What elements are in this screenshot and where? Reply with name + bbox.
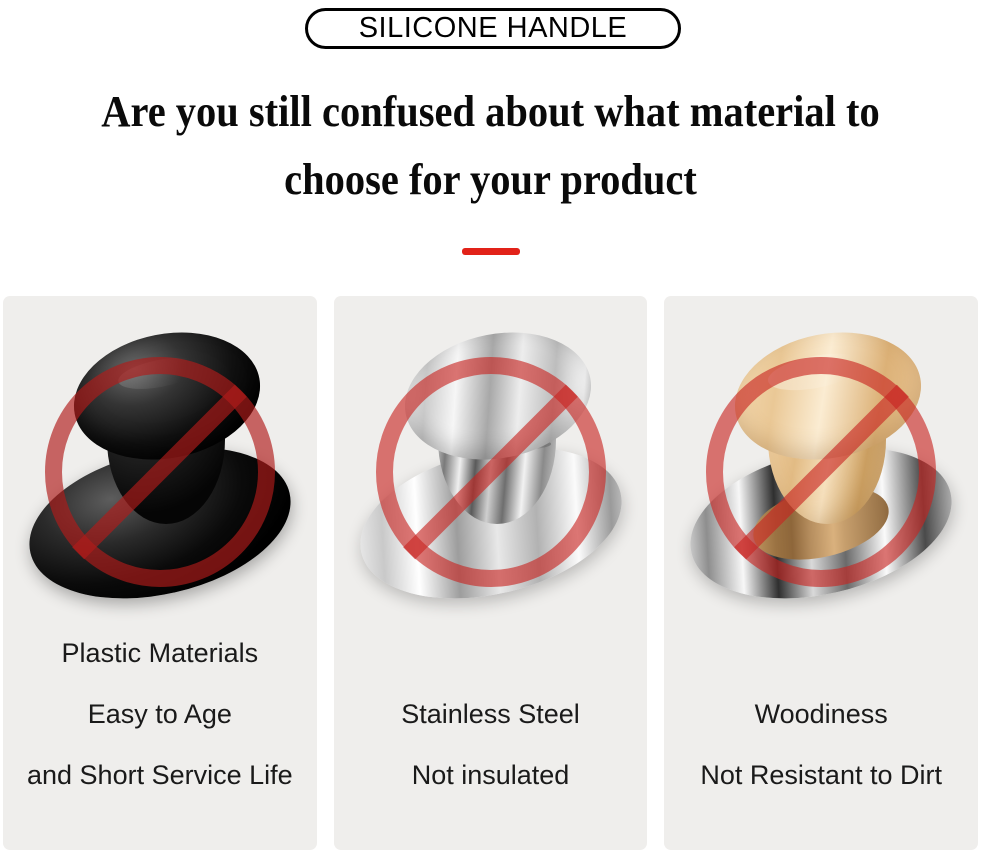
plastic-knob-illustration [21, 326, 299, 618]
product-image-stainless-steel [334, 296, 648, 648]
headline-line-2: choose for your product [39, 146, 942, 214]
page-title: Are you still confused about what materi… [39, 78, 942, 214]
product-image-wood [664, 296, 978, 648]
knob-cap [63, 317, 271, 475]
material-panel-stainless-steel: Stainless Steel Not insulated [334, 296, 648, 850]
knob-cap [724, 317, 932, 475]
caption-line: Woodiness [674, 684, 968, 745]
material-panel-wood: Woodiness Not Resistant to Dirt [664, 296, 978, 850]
red-divider-bar [462, 248, 520, 255]
caption-line: Easy to Age [13, 684, 307, 745]
knob-cap [393, 317, 601, 475]
caption-line: Stainless Steel [344, 684, 638, 745]
badge-label: SILICONE HANDLE [359, 14, 628, 43]
material-comparison-row: Plastic Materials Easy to Age and Short … [3, 296, 978, 850]
headline-line-1: Are you still confused about what materi… [39, 78, 942, 146]
panel-caption-stainless-steel: Stainless Steel Not insulated [334, 684, 648, 850]
wooden-knob-illustration [682, 326, 960, 618]
infographic-page: SILICONE HANDLE Are you still confused a… [0, 0, 981, 855]
panel-caption-plastic: Plastic Materials Easy to Age and Short … [3, 623, 317, 850]
caption-line: Plastic Materials [13, 623, 307, 684]
material-panel-plastic: Plastic Materials Easy to Age and Short … [3, 296, 317, 850]
divider [0, 248, 981, 255]
caption-line: Not Resistant to Dirt [674, 745, 968, 806]
product-image-plastic [3, 296, 317, 648]
product-category-badge: SILICONE HANDLE [305, 8, 681, 49]
caption-line: and Short Service Life [13, 745, 307, 806]
panel-caption-wood: Woodiness Not Resistant to Dirt [664, 684, 978, 850]
stainless-steel-knob-illustration [352, 326, 630, 618]
caption-line: Not insulated [344, 745, 638, 806]
